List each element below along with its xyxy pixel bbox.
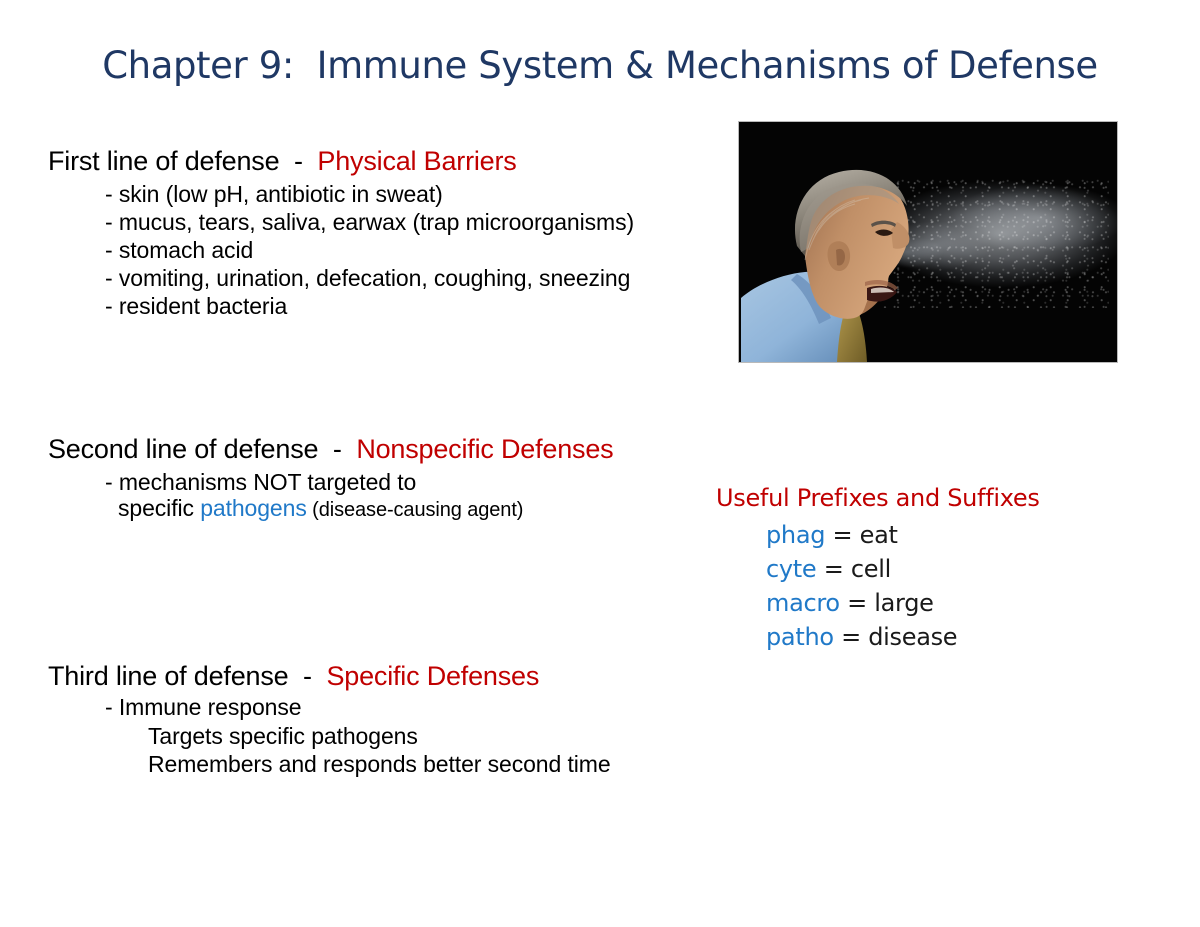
bullet-item: - skin (low pH, antibiotic in sweat) [105, 181, 443, 208]
bullet-item: - mucus, tears, saliva, earwax (trap mic… [105, 209, 634, 236]
section-heading-text: Second line of defense - [48, 434, 356, 464]
list-item: macro = large [766, 586, 1116, 620]
prefix-definition: = eat [825, 521, 897, 549]
list-item: patho = disease [766, 620, 1116, 654]
prefix-definition: = cell [816, 555, 891, 583]
section-heading-accent: Physical Barriers [317, 146, 516, 176]
bullet-item: Remembers and responds better second tim… [148, 751, 611, 778]
section-heading-accent: Specific Defenses [326, 661, 539, 691]
sneeze-photo [739, 122, 1117, 362]
section-heading-second-line: Second line of defense - Nonspecific Def… [48, 434, 613, 465]
bullet-item-parenthetical: (disease-causing agent) [307, 499, 524, 521]
slide-canvas: Chapter 9: Immune System & Mechanisms of… [0, 0, 1200, 927]
bullet-item: - Immune response [105, 694, 301, 721]
prefix-definition: = disease [834, 623, 958, 651]
section-heading-text: First line of defense - [48, 146, 317, 176]
bullet-item: - stomach acid [105, 237, 253, 264]
bullet-item: - mechanisms NOT targeted to [105, 469, 416, 496]
section-heading-third-line: Third line of defense - Specific Defense… [48, 661, 539, 692]
prefixes-suffixes-panel: Useful Prefixes and Suffixes phag = eat … [716, 484, 1116, 654]
list-item: cyte = cell [766, 552, 1116, 586]
prefix-term: cyte [766, 555, 816, 583]
prefix-list: phag = eat cyte = cell macro = large pat… [716, 518, 1116, 654]
section-heading-text: Third line of defense - [48, 661, 326, 691]
panel-title: Useful Prefixes and Suffixes [716, 484, 1116, 512]
bullet-item: Targets specific pathogens [148, 723, 418, 750]
section-heading-first-line: First line of defense - Physical Barrier… [48, 146, 517, 177]
list-item: phag = eat [766, 518, 1116, 552]
page-title: Chapter 9: Immune System & Mechanisms of… [0, 44, 1200, 87]
prefix-definition: = large [840, 589, 934, 617]
prefix-term: patho [766, 623, 834, 651]
bullet-item: - resident bacteria [105, 293, 287, 320]
bullet-item-text: specific [118, 495, 200, 521]
prefix-term: phag [766, 521, 825, 549]
bullet-item-keyword: pathogens [200, 495, 307, 521]
bullet-item: specific pathogens (disease-causing agen… [118, 495, 523, 522]
bullet-item: - vomiting, urination, defecation, cough… [105, 265, 630, 292]
section-heading-accent: Nonspecific Defenses [356, 434, 613, 464]
prefix-term: macro [766, 589, 840, 617]
man-profile-illustration [739, 122, 1117, 362]
